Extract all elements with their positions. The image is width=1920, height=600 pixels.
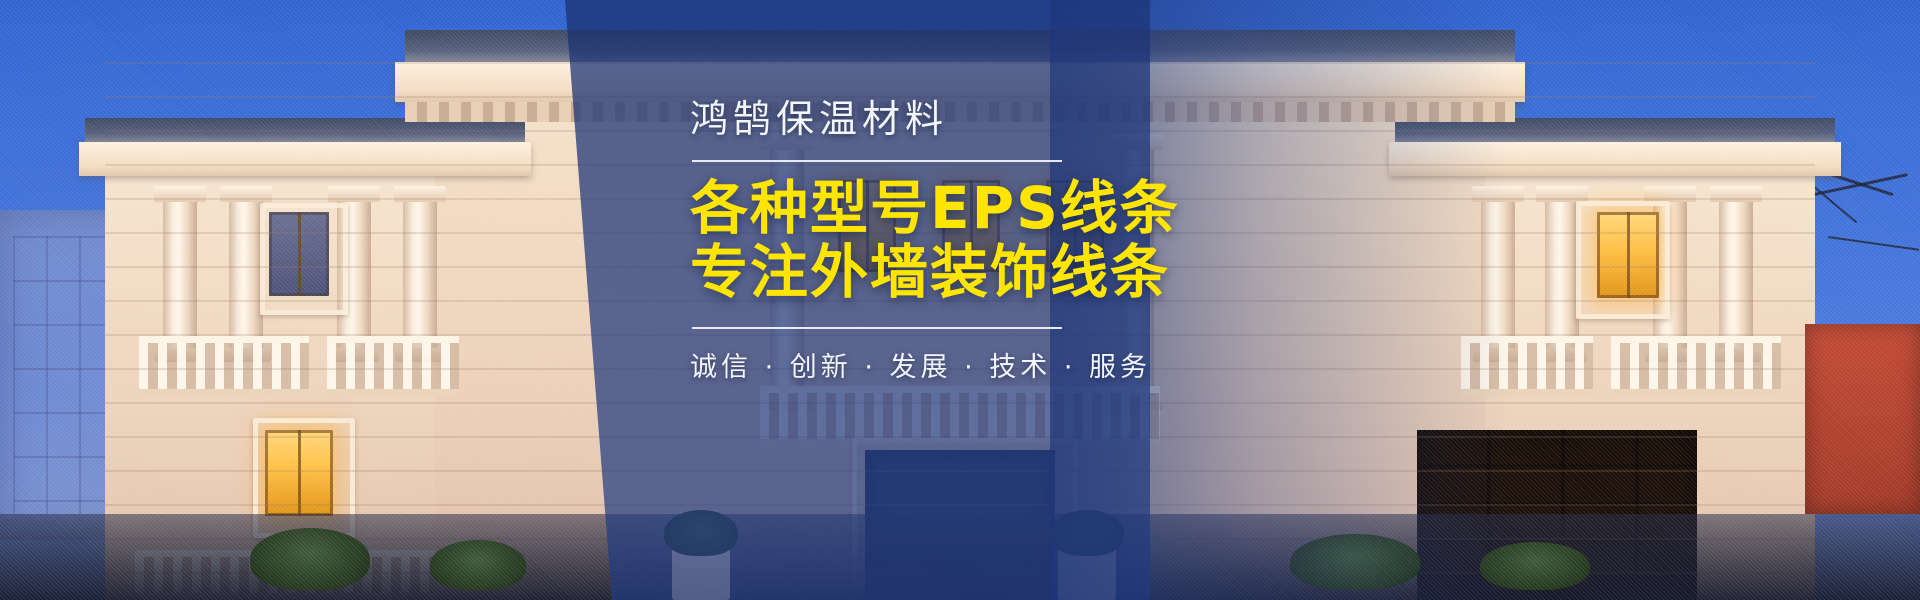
shrub: [1480, 542, 1590, 590]
column: [403, 200, 437, 350]
divider-bottom: [692, 327, 1062, 329]
tagline: 诚信 · 创新 · 发展 · 技术 · 服务: [690, 345, 1510, 384]
column: [163, 200, 197, 350]
balcony-balustrade: [327, 336, 459, 396]
red-wall-accent: [1805, 324, 1920, 514]
banner-content: 鸿鹄保温材料 各种型号EPS线条 专注外墙装饰线条 诚信 · 创新 · 发展 ·…: [690, 96, 1510, 384]
shrub: [664, 510, 738, 556]
window-trim: [260, 203, 348, 315]
brand-name: 鸿鹄保温材料: [690, 96, 1510, 144]
column: [229, 200, 263, 350]
promo-banner: 鸿鹄保温材料 各种型号EPS线条 专注外墙装饰线条 诚信 · 创新 · 发展 ·…: [0, 0, 1920, 600]
headline-line-1: 各种型号EPS线条: [690, 176, 1510, 241]
balcony-balustrade: [139, 336, 309, 396]
window-trim: [1576, 201, 1670, 319]
headline-line-2: 专注外墙装饰线条: [690, 240, 1510, 305]
shrub: [430, 540, 526, 590]
column: [1545, 200, 1579, 350]
divider-top: [692, 160, 1062, 162]
shrub: [1290, 534, 1420, 590]
roof-center: [405, 30, 1515, 64]
balcony-balustrade: [760, 386, 1160, 446]
shrub: [250, 528, 370, 590]
shrub: [1050, 510, 1124, 556]
balcony-balustrade: [1611, 336, 1781, 396]
column: [1719, 200, 1753, 350]
cornice-left: [79, 142, 531, 176]
